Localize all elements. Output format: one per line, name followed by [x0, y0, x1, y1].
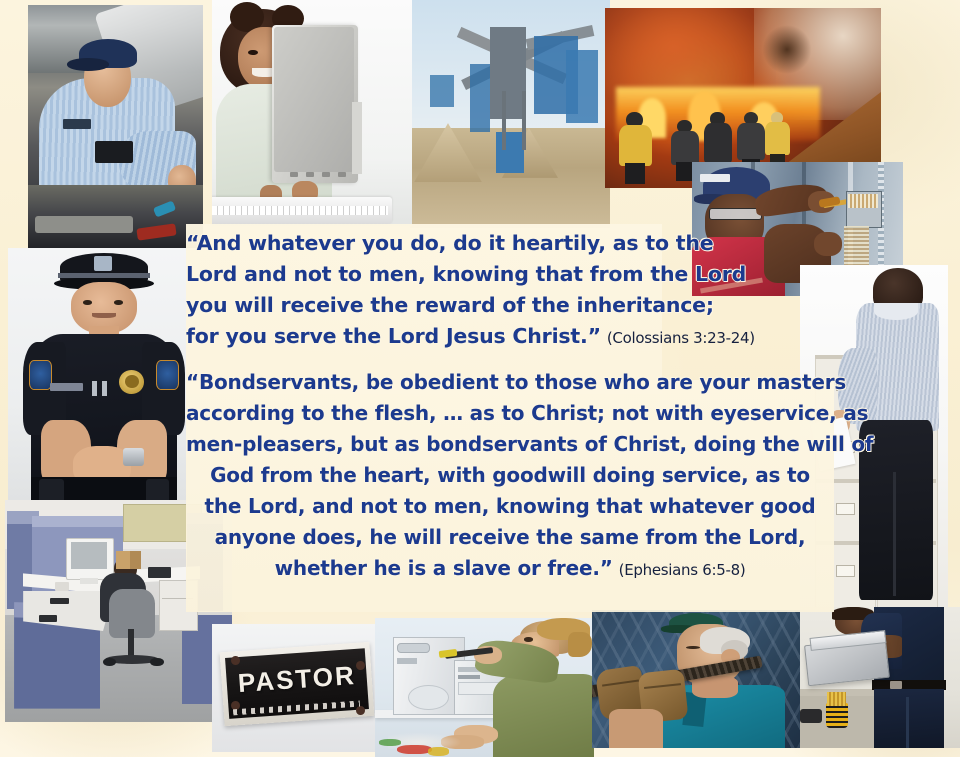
scripture-photo-collage-poster: PASTOR — [0, 0, 960, 757]
verse-line: God from the heart, with goodwill doing … — [186, 460, 834, 491]
photo-computer-technician — [375, 618, 594, 757]
photo-delivery-worker — [800, 607, 960, 748]
photo-industrial-plant — [410, 0, 610, 228]
photo-pastor-sign: PASTOR — [212, 624, 383, 752]
passage-ephesians: “Bondservants, be obedient to those who … — [186, 367, 834, 586]
verse-line: you will receive the reward of the inher… — [186, 290, 656, 321]
citation-ephesians: (Ephesians 6:5-8) — [619, 561, 746, 579]
passage-colossians: “And whatever you do, do it heartily, as… — [186, 228, 656, 354]
photo-ironworker — [592, 610, 800, 748]
verse-line: “And whatever you do, do it heartily, as… — [186, 228, 656, 259]
verse-line-text: whether he is a slave or free.” — [275, 556, 613, 580]
verse-line: “Bondservants, be obedient to those who … — [186, 367, 834, 398]
photo-police-officer — [8, 248, 200, 508]
citation-colossians: (Colossians 3:23-24) — [607, 329, 755, 347]
verse-line: men-pleasers, but as bondservants of Chr… — [186, 429, 834, 460]
photo-office-woman — [212, 0, 412, 226]
photo-mechanic — [28, 5, 203, 248]
verse-line-text: for you serve the Lord Jesus Christ.” — [186, 324, 601, 348]
verse-line: the Lord, and not to men, knowing that w… — [186, 491, 834, 522]
verse-line: Lord and not to men, knowing that from t… — [186, 259, 656, 290]
verse-line: according to the flesh, … as to Christ; … — [186, 398, 834, 429]
verse-line: anyone does, he will receive the same fr… — [186, 522, 834, 553]
verse-line: for you serve the Lord Jesus Christ.”(Co… — [186, 321, 656, 354]
scripture-text-block: “And whatever you do, do it heartily, as… — [186, 228, 656, 586]
photo-firefighters — [605, 8, 881, 188]
verse-line: whether he is a slave or free.”(Ephesian… — [186, 553, 834, 586]
